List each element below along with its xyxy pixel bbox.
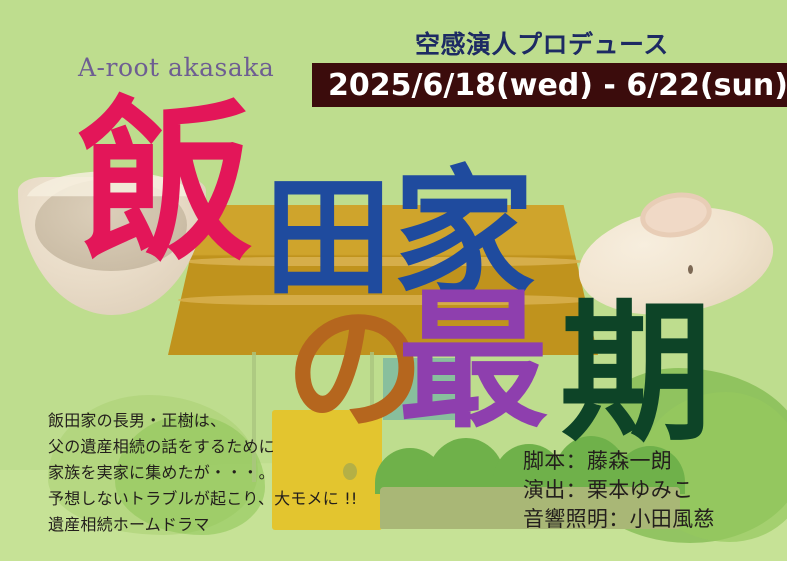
synopsis-line: 予想しないトラブルが起こり、大モメに !! xyxy=(48,486,357,512)
producer-label: 空感演人プロデュース xyxy=(415,25,669,61)
synopsis-line: 遺産相続ホームドラマ xyxy=(48,512,357,538)
synopsis-line: 飯田家の長男・正樹は、 xyxy=(48,408,357,434)
theater-poster: A-root akasaka 空感演人プロデュース 2025/6/18(wed)… xyxy=(0,0,787,561)
synopsis-text: 飯田家の長男・正樹は、 父の遺産相続の話をするために 家族を実家に集めたが・・・… xyxy=(48,408,357,538)
synopsis-line: 父の遺産相続の話をするために xyxy=(48,434,357,460)
title-glyph-6: 期 xyxy=(560,298,712,450)
credit-line-sound-lighting: 音響照明：小田風慈 xyxy=(523,505,715,534)
title-glyph-5: 最 xyxy=(398,287,548,437)
credits-text: 脚本：藤森一朗 演出：栗本ゆみこ 音響照明：小田風慈 xyxy=(523,447,715,534)
date-banner: 2025/6/18(wed) - 6/22(sun) xyxy=(312,63,787,107)
title-glyph-1: 飯 xyxy=(78,96,253,271)
title-glyph-2: 田 xyxy=(264,175,392,303)
credit-line-director: 演出：栗本ゆみこ xyxy=(523,476,715,505)
pot-lid-dot xyxy=(688,265,693,274)
credit-line-script: 脚本：藤森一朗 xyxy=(523,447,715,476)
date-text: 2025/6/18(wed) - 6/22(sun) xyxy=(328,63,787,107)
company-logo: A-root akasaka xyxy=(78,53,274,82)
synopsis-line: 家族を実家に集めたが・・・。 xyxy=(48,460,357,486)
